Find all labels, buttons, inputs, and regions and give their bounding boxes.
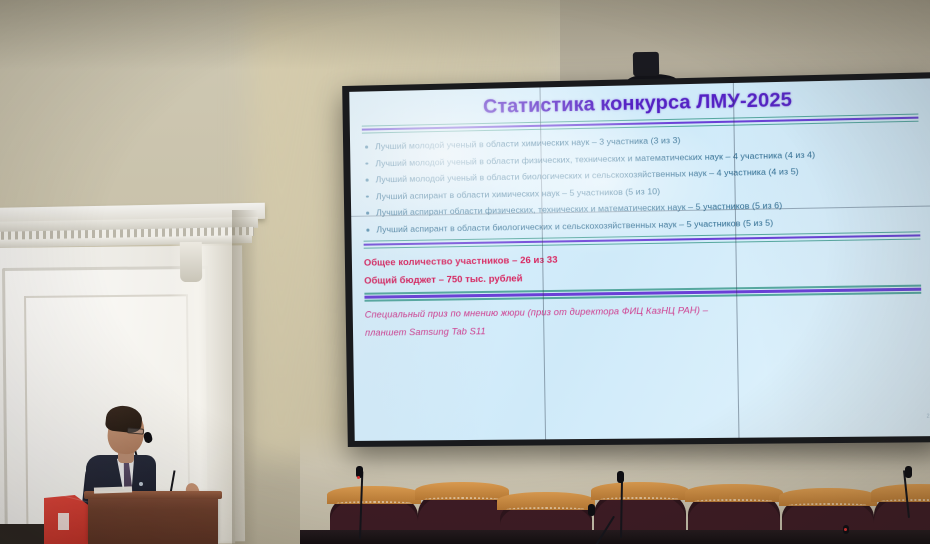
delegate-microphone-head	[588, 504, 595, 516]
presentation-slide: Статистика конкурса ЛМУ-2025 Лучший моло…	[349, 78, 930, 441]
totals-block: Общее количество участников – 26 из 33 О…	[364, 245, 921, 289]
lapel-pin-icon	[139, 482, 143, 486]
video-wall: Статистика конкурса ЛМУ-2025 Лучший моло…	[342, 72, 930, 447]
screenshot-root: Статистика конкурса ЛМУ-2025 Лучший моло…	[0, 0, 930, 544]
delegate-table	[300, 530, 930, 544]
special-prize-block: Специальный приз по мнению жюри (приз от…	[365, 297, 922, 342]
delegate-microphone-head	[905, 466, 912, 478]
ptz-camera-icon	[633, 52, 659, 76]
delegate-microphone-led	[844, 528, 847, 531]
corbel	[180, 242, 202, 282]
delegate-microphone-head	[617, 471, 624, 483]
slide-bullet-list: Лучший молодой ученый в области химическ…	[362, 129, 920, 237]
delegate-microphone-led	[357, 476, 360, 479]
slide-number: 2	[927, 414, 930, 420]
ceiling-shadow	[0, 0, 930, 70]
wall-edge-shadow	[232, 210, 258, 544]
podium	[88, 495, 218, 544]
folder-label	[58, 513, 69, 530]
